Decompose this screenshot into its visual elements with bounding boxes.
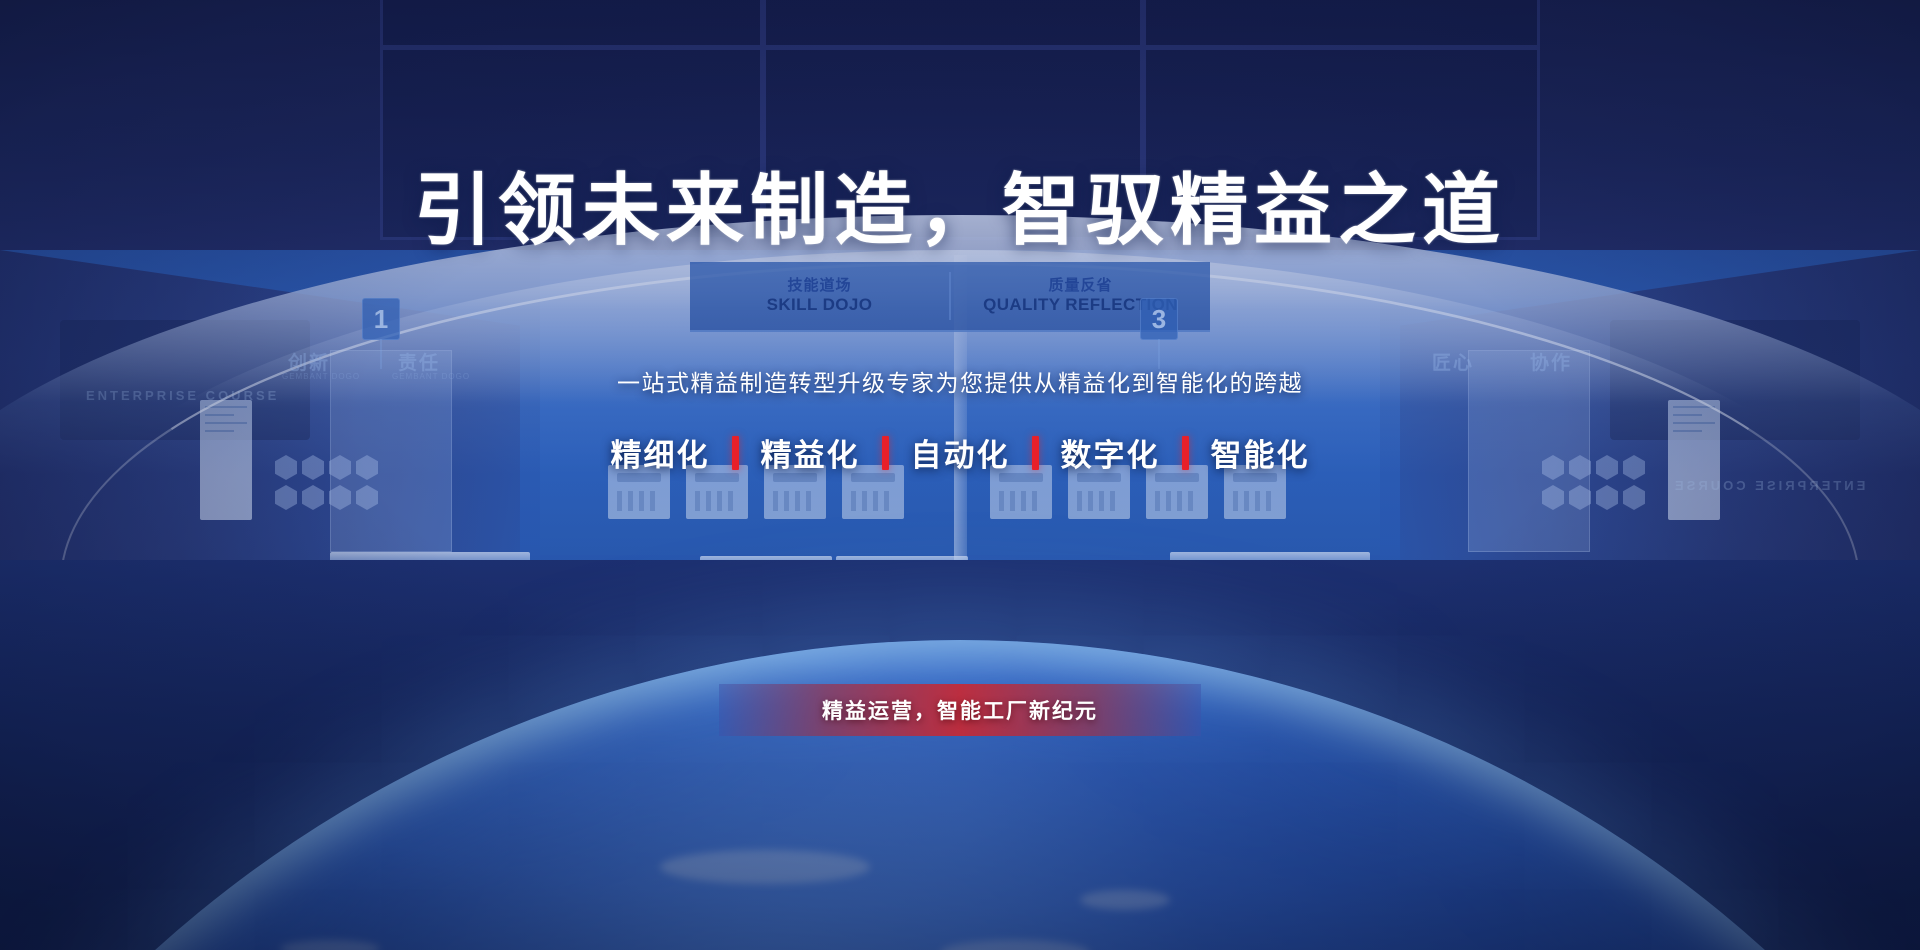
keyword-item-1: 精益化 <box>739 430 882 475</box>
keyword-item-0: 精细化 <box>589 430 732 475</box>
tagline-text: 精益运营，智能工厂新纪元 <box>822 695 1098 725</box>
keyword-list: 精细化 精益化 自动化 数字化 智能化 <box>0 430 1920 475</box>
keyword-separator <box>1182 436 1189 470</box>
keyword-item-3: 数字化 <box>1039 430 1182 475</box>
hero-subtitle: 一站式精益制造转型升级专家为您提供从精益化到智能化的跨越 <box>0 364 1920 398</box>
tagline-badge: 精益运营，智能工厂新纪元 <box>719 684 1201 736</box>
keyword-item-2: 自动化 <box>889 430 1032 475</box>
page-title: 引领未来制造，智驭精益之道 <box>0 148 1920 260</box>
keyword-separator <box>882 436 889 470</box>
hero-content: 引领未来制造，智驭精益之道 一站式精益制造转型升级专家为您提供从精益化到智能化的… <box>0 0 1920 950</box>
keyword-separator <box>1032 436 1039 470</box>
keyword-item-4: 智能化 <box>1189 430 1332 475</box>
keyword-separator <box>732 436 739 470</box>
hero-banner: 技能道场 SKILL DOJO 质量反省 QUALITY REFLECTION … <box>0 0 1920 950</box>
